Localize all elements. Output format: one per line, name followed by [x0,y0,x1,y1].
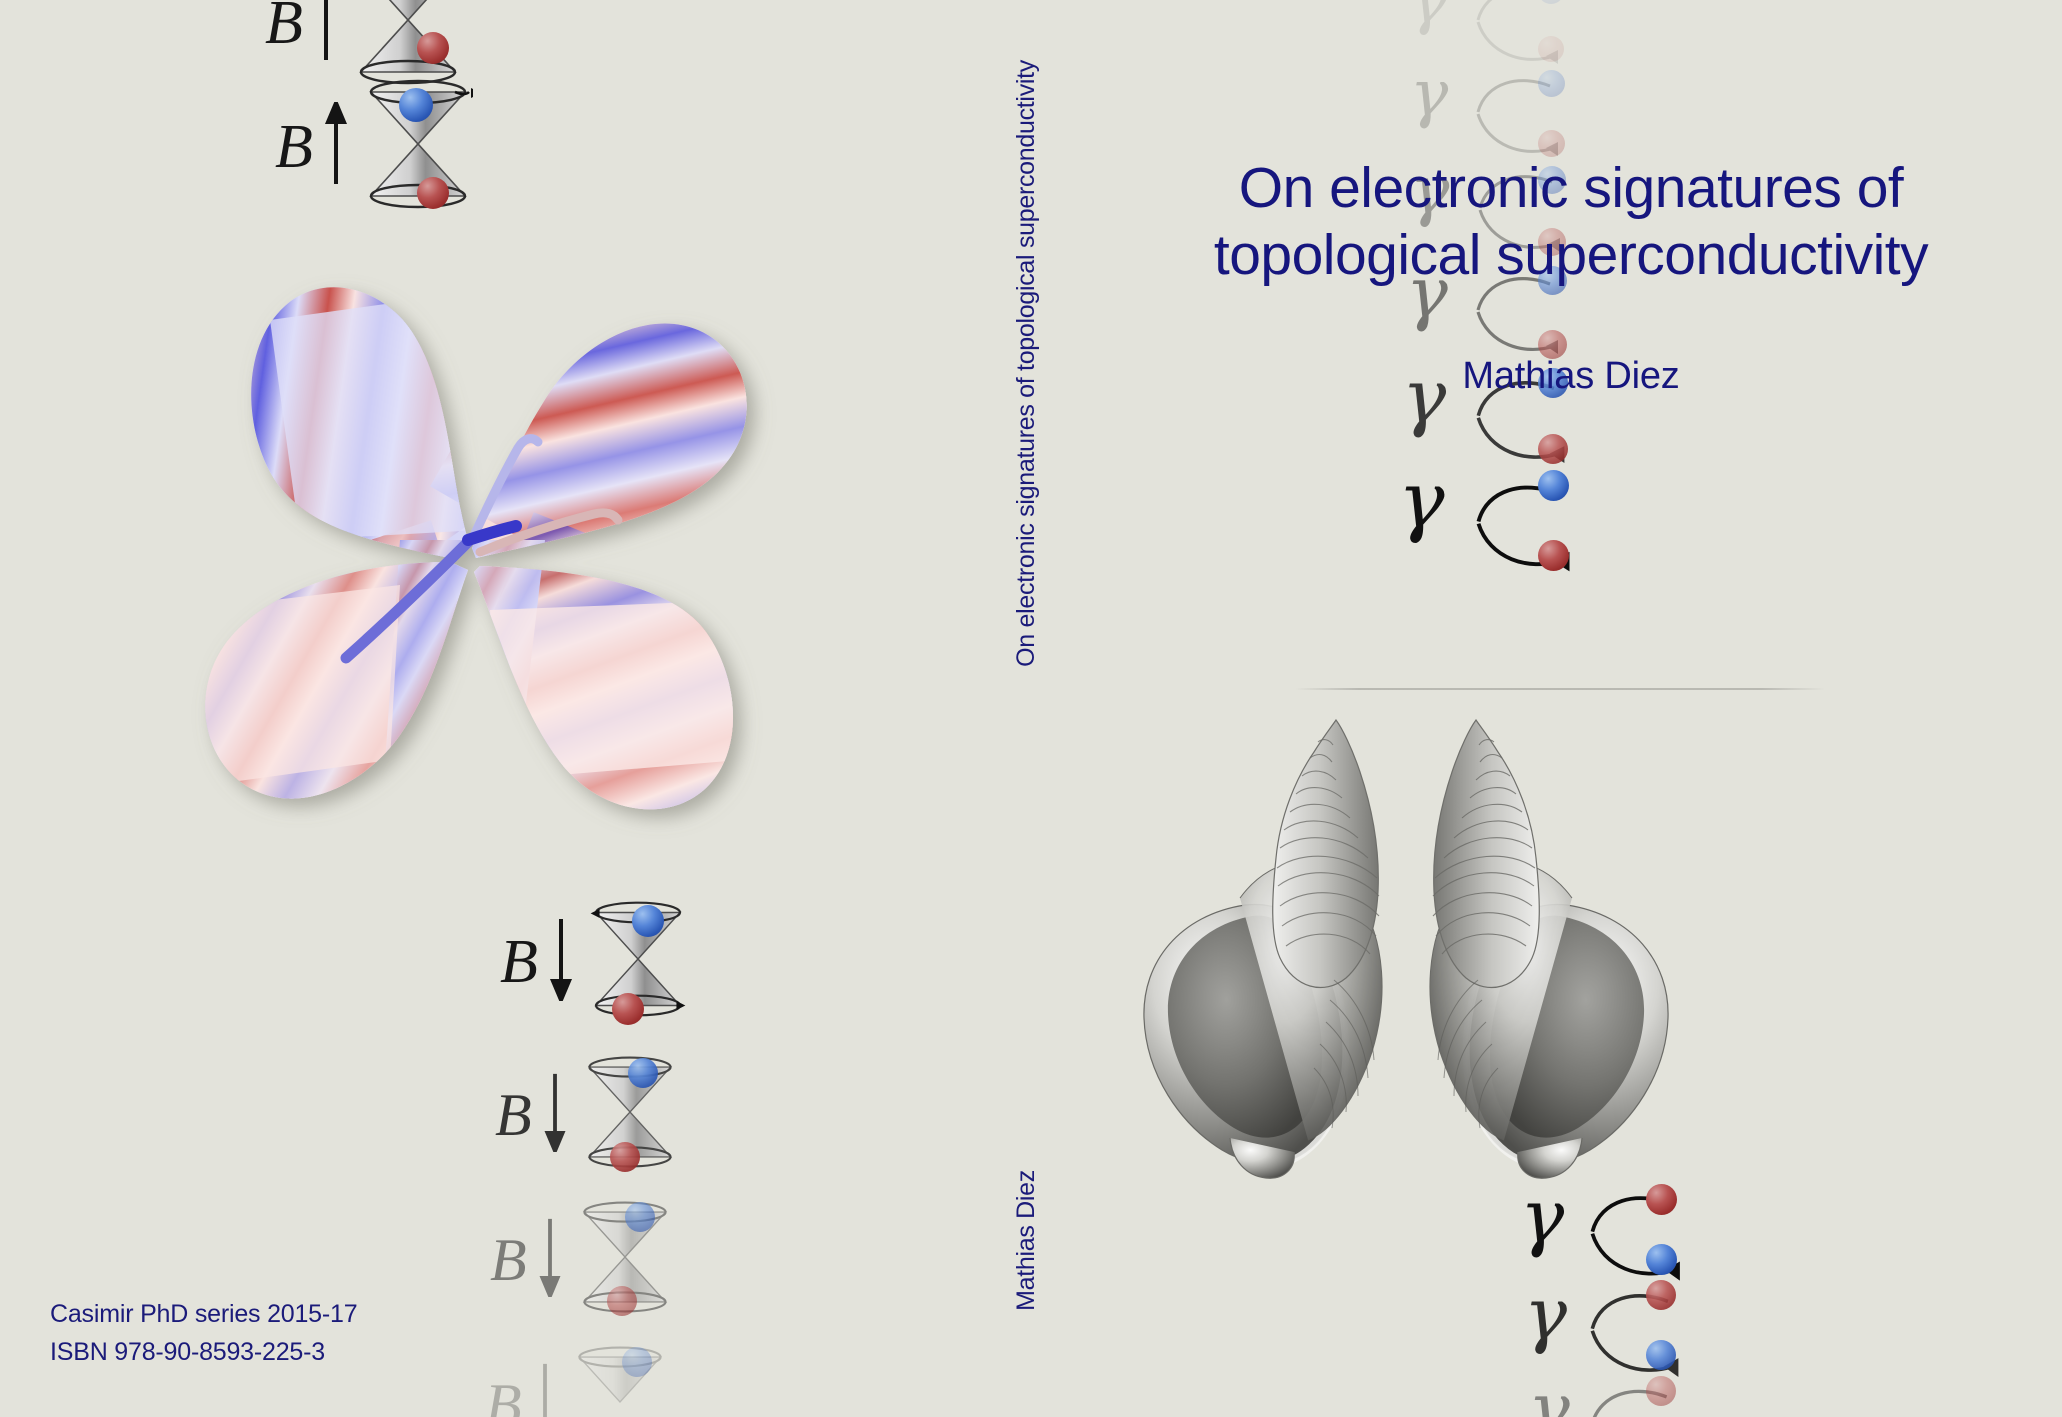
gamma-symbol: γ [1398,462,1445,540]
particle-sphere-red [610,1142,640,1172]
divider [1295,688,1825,690]
particle-sphere-blue [399,88,433,122]
imprint-block: Casimir PhD series 2015-17 ISBN 978-90-8… [50,1300,357,1367]
magnetic-field-label: B [265,0,303,54]
particle-sphere-red [1646,1280,1676,1310]
magnetic-field-label: B [485,1375,522,1417]
field-arrow-down-icon [542,1072,568,1157]
seashell-left [1144,720,1382,1178]
field-arrow-up-icon [313,0,339,67]
spine-author: Mathias Diez [1012,1170,1041,1311]
back-cover: B [0,0,1000,1417]
particle-sphere-red [1646,1184,1677,1215]
gamma-symbol: γ [1410,0,1447,32]
particle-sphere-blue [1646,1244,1677,1275]
particle-sphere-blue [625,1202,655,1232]
particle-sphere-red [1538,36,1564,62]
particle-sphere-red [612,993,644,1025]
imprint-isbn: ISBN 978-90-8593-225-3 [50,1338,357,1367]
particle-sphere-blue [1538,70,1565,97]
magnetic-field-label: B [490,1230,527,1290]
spine-title: On electronic signatures of topological … [1012,60,1041,667]
particle-sphere-red [1538,540,1569,571]
front-cover: γ γ γ [1080,0,2062,1417]
seashell-right [1430,720,1668,1178]
gamma-chain-bottom: γ γ γ [1520,1180,1780,1417]
seashell-illustration [1080,700,2062,1180]
magnetic-field-label: B [500,931,538,993]
spine: On electronic signatures of topological … [1000,0,1080,1417]
particle-sphere-red [417,177,449,209]
imprint-series: Casimir PhD series 2015-17 [50,1300,357,1329]
gamma-symbol: γ [1520,1180,1564,1254]
book-cover: B [0,0,2062,1417]
particle-sphere-red [1646,1376,1676,1406]
hofstadter-butterfly-figure [150,240,790,880]
field-arrow-up-icon [323,102,349,191]
particle-sphere-red [607,1286,637,1316]
gamma-symbol: γ [1524,1278,1567,1350]
dirac-cone-icon [572,1345,668,1417]
title-line-1: On electronic signatures of [1080,155,2062,222]
book-author: Mathias Diez [1080,355,2062,398]
field-arrow-down-icon [532,1362,558,1417]
field-arrow-down-icon [537,1217,563,1302]
particle-sphere-blue [632,905,664,937]
particle-sphere-blue [622,1347,652,1377]
gamma-symbol: γ [1528,1374,1570,1417]
particle-sphere-blue [1538,470,1569,501]
gamma-chain-top: γ γ γ [1410,0,1610,690]
particle-sphere-red [417,32,449,64]
title-line-2: topological superconductivity [1080,222,2062,289]
particle-sphere-red [1538,130,1565,157]
particle-sphere-red [1538,434,1568,464]
magnetic-field-label: B [275,116,313,178]
book-title: On electronic signatures of topological … [1080,155,2062,288]
gamma-symbol: γ [1410,62,1448,126]
particle-sphere-blue [1646,1340,1676,1370]
field-arrow-down-icon [548,917,574,1006]
magnetic-field-label: B [495,1085,532,1145]
particle-sphere-blue [628,1058,658,1088]
